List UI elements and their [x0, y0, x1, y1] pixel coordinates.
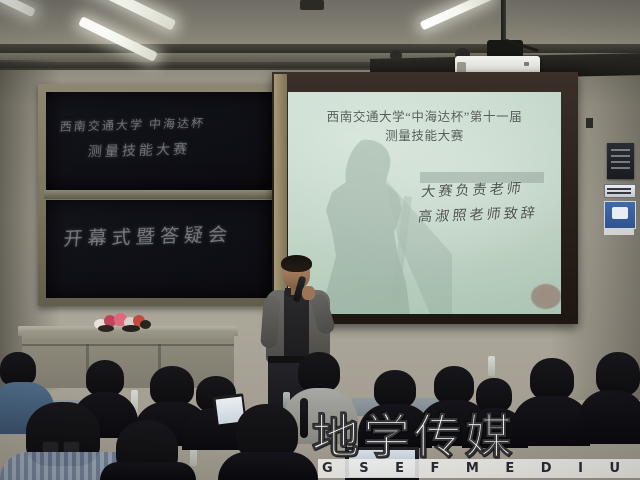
ceiling-fixture — [300, 0, 324, 10]
slide-sponsor-logo — [531, 284, 561, 309]
blue-information-sign — [604, 201, 636, 229]
ceiling-fixture — [390, 50, 402, 61]
projection-screen: 西南交通大学“中海达杯”第十一届 测量技能大赛 大赛负责老师 高淑照老师致辞 — [288, 92, 561, 314]
screen-side-rail — [274, 74, 287, 322]
strip-sign — [604, 184, 636, 198]
speaker-hair — [281, 255, 312, 272]
audience-head — [150, 366, 194, 406]
blackboard-upper-panel — [46, 92, 274, 190]
slide-subtitle-block: 大赛负责老师 高淑照老师致辞 — [417, 176, 561, 231]
sign-label-strip — [604, 229, 634, 235]
audience-torso-foreground — [100, 462, 196, 480]
blackboard-chalk-rail — [44, 190, 276, 199]
photograph: 西南交通大学 中海达杯 测量技能大赛 开幕式暨答疑会 西南交通大学“中海达杯”第… — [0, 0, 640, 480]
speaker-hand — [302, 286, 315, 300]
audience-head — [374, 370, 416, 408]
water-bottle — [488, 356, 495, 376]
audience-head — [298, 352, 340, 392]
blackboard — [38, 84, 282, 306]
slide-subtitle-line2: 高淑照老师致辞 — [417, 201, 561, 231]
slide-title-line2: 测量技能大赛 — [288, 127, 561, 146]
audience-torso-foreground — [218, 452, 318, 480]
microphone-on-stand — [300, 398, 308, 438]
blackboard-lower-panel — [46, 200, 274, 298]
eyeglasses — [42, 441, 78, 452]
watermark-subtext: G S E F M E D I U M — [322, 460, 638, 477]
flower-arrangement — [92, 312, 154, 332]
speaker-left-arm — [260, 295, 281, 348]
audience-head — [476, 378, 512, 412]
ceiling-beam — [0, 44, 640, 53]
slide-title-line1: 西南交通大学“中海达杯”第十一届 — [288, 108, 561, 127]
watermark-logo-text: 地学传媒 — [312, 414, 640, 462]
desk-edge-line — [22, 344, 234, 346]
wall-socket — [586, 118, 593, 128]
notice-board-sign — [607, 143, 634, 179]
projector-indicator — [524, 62, 529, 66]
audience-head — [434, 366, 474, 404]
slide-title-block: 西南交通大学“中海达杯”第十一届 测量技能大赛 — [288, 108, 561, 146]
audience-head — [0, 352, 36, 386]
sign-pictogram-icon — [612, 207, 628, 219]
audience-head — [86, 360, 124, 396]
audience-head — [530, 358, 574, 400]
